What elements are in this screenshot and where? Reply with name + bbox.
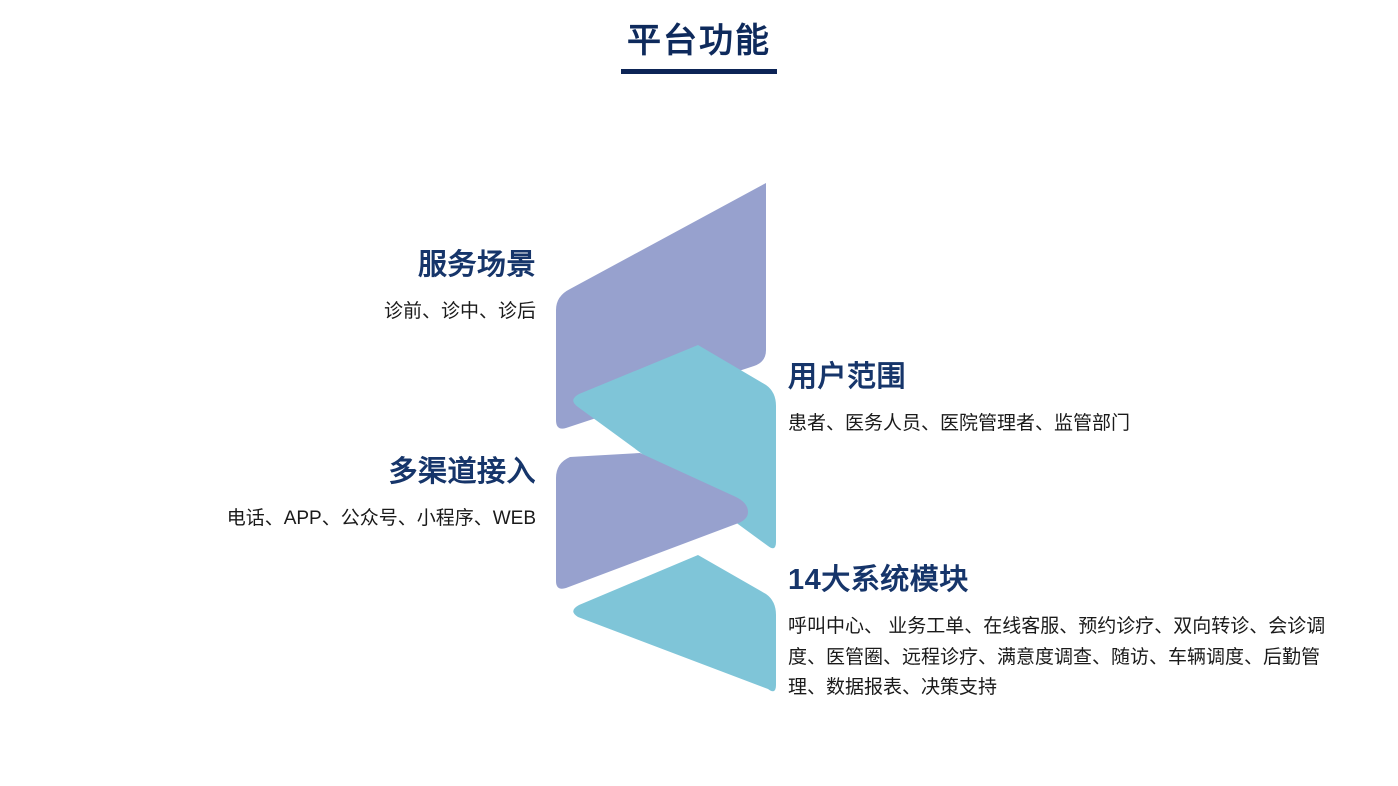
block-system-modules: 14大系统模块 呼叫中心、 业务工单、在线客服、预约诊疗、双向转诊、会诊调度、医… bbox=[788, 563, 1348, 704]
block-system-modules-body: 呼叫中心、 业务工单、在线客服、预约诊疗、双向转诊、会诊调度、医管圈、远程诊疗、… bbox=[788, 612, 1333, 704]
block-service-scenario: 服务场景 诊前、诊中、诊后 bbox=[384, 248, 536, 328]
block-user-scope-body: 患者、医务人员、医院管理者、监管部门 bbox=[788, 409, 1130, 440]
page-title-text: 平台功能 bbox=[621, 22, 777, 74]
block-system-modules-heading: 14大系统模块 bbox=[788, 563, 1348, 598]
page-title: 平台功能 bbox=[0, 22, 1398, 74]
zigzag-chevron-graphic bbox=[540, 170, 790, 690]
block-multi-channel: 多渠道接入 电话、APP、公众号、小程序、WEB bbox=[227, 455, 536, 535]
block-user-scope-heading: 用户范围 bbox=[788, 360, 1130, 395]
block-multi-channel-body: 电话、APP、公众号、小程序、WEB bbox=[227, 504, 536, 535]
block-service-scenario-heading: 服务场景 bbox=[384, 248, 536, 283]
block-multi-channel-heading: 多渠道接入 bbox=[227, 455, 536, 490]
block-user-scope: 用户范围 患者、医务人员、医院管理者、监管部门 bbox=[788, 360, 1130, 440]
block-service-scenario-body: 诊前、诊中、诊后 bbox=[384, 297, 536, 328]
chevron-shape-4 bbox=[573, 555, 776, 691]
